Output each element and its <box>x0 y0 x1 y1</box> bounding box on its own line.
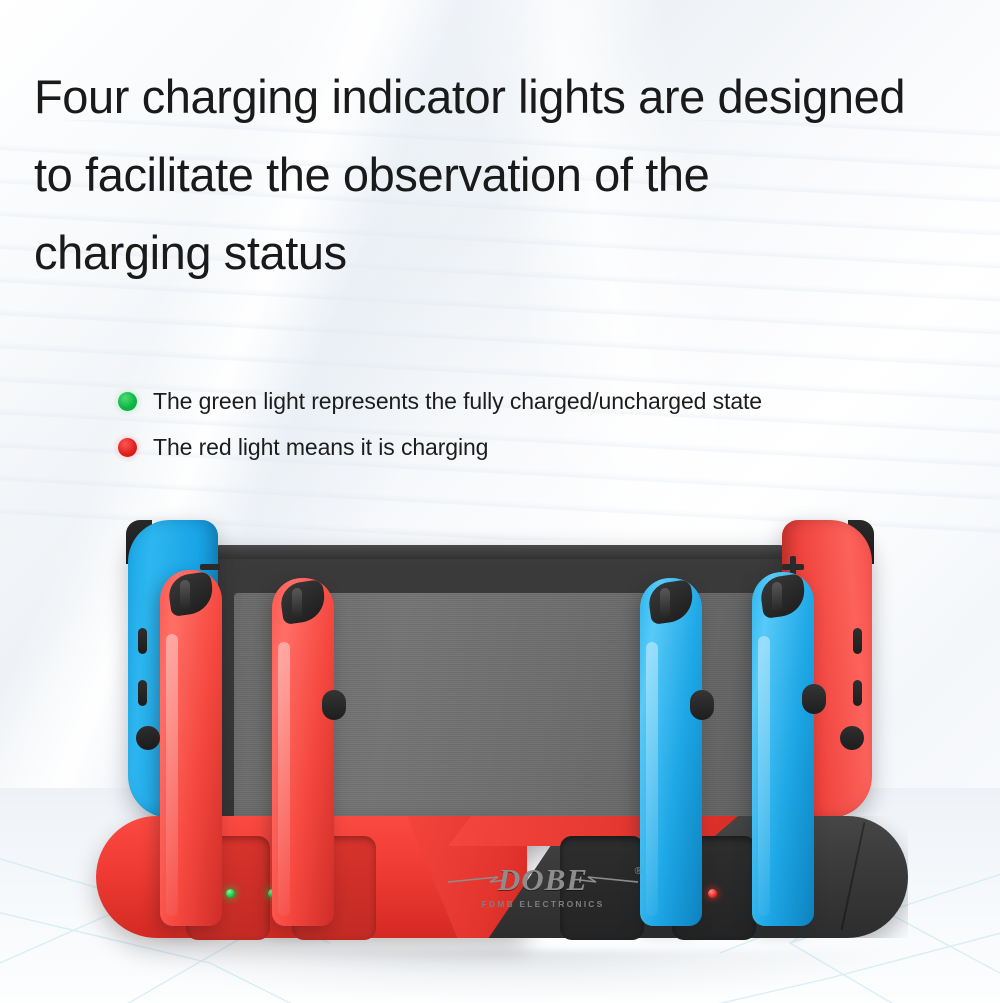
joycon-sr-button <box>138 680 147 706</box>
joycon-shoulder-grip <box>752 572 814 634</box>
joycon-sl-button <box>853 628 862 654</box>
green-indicator-dot-icon <box>118 392 137 411</box>
joycon-sl-button <box>138 628 147 654</box>
joycon-stick <box>136 726 160 750</box>
minus-button-icon <box>200 564 220 570</box>
joycon-sr-button <box>853 680 862 706</box>
docked-joycon-1-red <box>160 570 222 926</box>
joycon-highlight <box>278 642 290 916</box>
product-reflection <box>118 950 888 998</box>
registered-trademark-icon: ® <box>635 866 642 877</box>
joycon-shoulder-grip <box>160 570 222 632</box>
list-item-label: The red light means it is charging <box>153 434 488 461</box>
joycon-shoulder-grip <box>272 578 334 640</box>
brand-wing-icon <box>446 875 640 887</box>
page-title: Four charging indicator lights are desig… <box>34 58 994 292</box>
joycon-highlight <box>646 642 658 916</box>
console-top-frame <box>212 545 788 559</box>
list-item: The green light represents the fully cha… <box>118 378 948 424</box>
joycon-stick-knob <box>802 684 826 714</box>
docked-joycon-4-blue <box>752 572 814 926</box>
docked-joycon-3-blue <box>640 578 702 926</box>
brand-logo: DOBE ® FDMB ELECTRONICS <box>448 864 638 909</box>
indicator-led-4-red <box>708 889 717 898</box>
joycon-stick-knob <box>690 690 714 720</box>
indicator-legend: The green light represents the fully cha… <box>118 378 948 470</box>
joycon-shoulder-grip <box>640 578 702 640</box>
list-item: The red light means it is charging <box>118 424 948 470</box>
docked-joycon-2-red <box>272 578 334 926</box>
joycon-stick <box>840 726 864 750</box>
indicator-led-1-green <box>226 889 235 898</box>
joycon-stick-knob <box>322 690 346 720</box>
joycon-highlight <box>758 636 770 916</box>
joycon-highlight <box>166 634 178 916</box>
red-indicator-dot-icon <box>118 438 137 457</box>
brand-tagline: FDMB ELECTRONICS <box>448 899 638 909</box>
product-image <box>0 520 1000 980</box>
list-item-label: The green light represents the fully cha… <box>153 388 762 415</box>
